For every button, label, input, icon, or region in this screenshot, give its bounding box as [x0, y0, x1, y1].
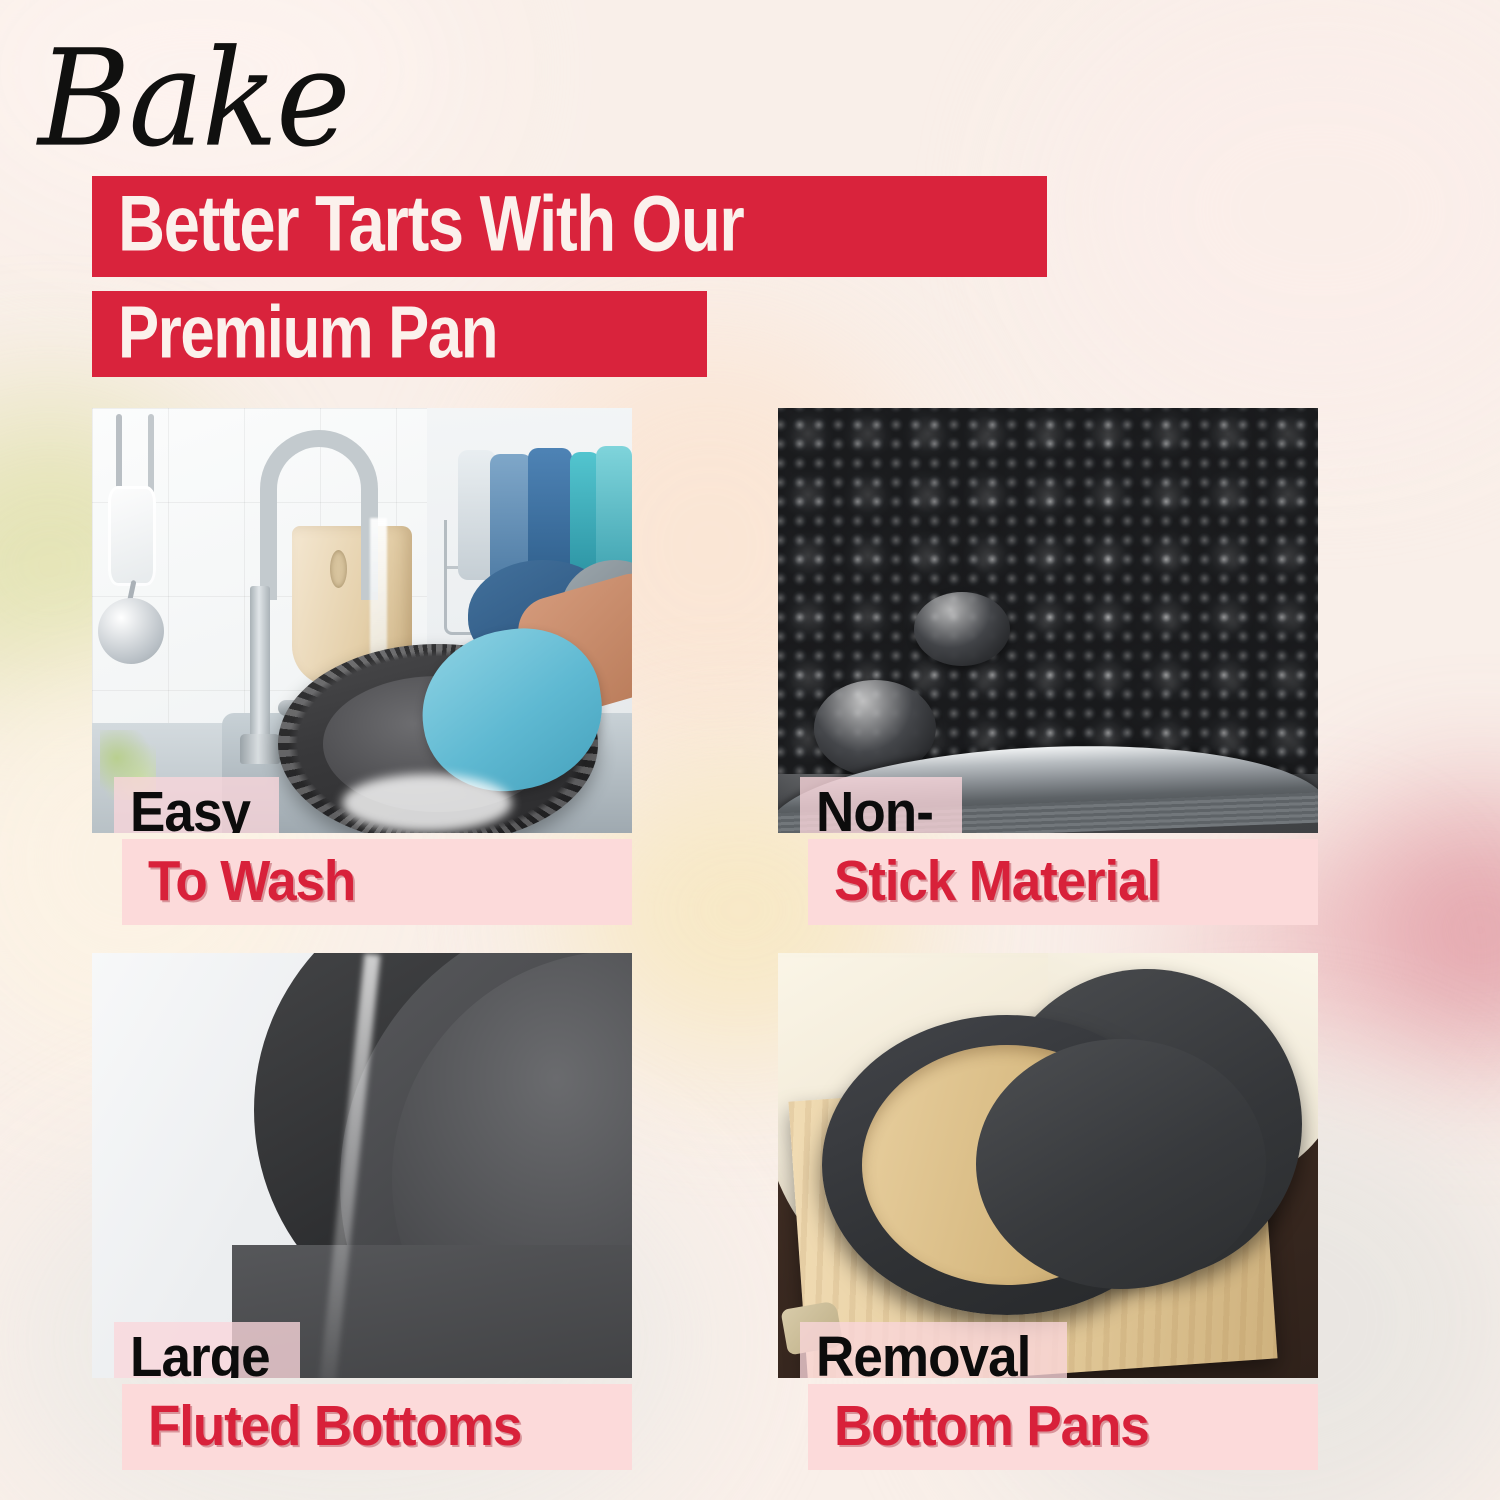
photo-washing-pan-in-sink: Easy: [92, 408, 632, 833]
faucet-post: [250, 586, 270, 756]
photo-fluted-rim-macro: Large: [92, 953, 632, 1378]
feature-word-bottom-bottom-pans: Bottom Pans: [808, 1384, 1318, 1470]
headline-banner-line1: Better Tarts With Our: [92, 176, 1047, 277]
feature-word-bottom-stick-material: Stick Material: [808, 839, 1318, 925]
inner-base-plate: [976, 1039, 1266, 1289]
feature-word-top-large: Large: [114, 1322, 300, 1378]
feature-card-removal-bottom-pans: Removal Bottom Pans: [778, 953, 1318, 1470]
feature-word-top-removal: Removal: [800, 1322, 1067, 1378]
large-water-droplet: [914, 592, 1010, 666]
feature-word-bottom-fluted-bottoms: Fluted Bottoms: [122, 1384, 632, 1470]
background-blob-top-right: [1060, 0, 1500, 420]
script-heading-bake: Bake: [38, 32, 349, 166]
headline-text-line2: Premium Pan: [118, 294, 497, 374]
feature-word-bottom-text: To Wash: [148, 852, 585, 910]
headline-text-line1: Better Tarts With Our: [118, 185, 743, 269]
feature-word-bottom-text: Stick Material: [834, 852, 1271, 910]
faucet-base: [240, 734, 280, 764]
soap-foam: [342, 774, 512, 832]
feature-word-top-easy: Easy: [114, 777, 279, 833]
faucet-neck: [260, 430, 378, 600]
feature-word-top-text: Removal: [816, 1328, 1030, 1378]
feature-card-easy-to-wash: Easy To Wash: [92, 408, 632, 925]
feature-card-large-fluted-bottoms: Large Fluted Bottoms: [92, 953, 632, 1470]
feature-card-non-stick-material: Non- Stick Material: [778, 408, 1318, 925]
photo-water-beads-on-nonstick: Non-: [778, 408, 1318, 833]
feature-word-top-non: Non-: [800, 777, 962, 833]
ladle-icon: [98, 598, 164, 664]
photo-pan-with-removable-bottom: Removal: [778, 953, 1318, 1378]
feature-word-top-text: Non-: [816, 783, 933, 833]
feature-grid: Easy To Wash Non- Stick Material: [92, 408, 1322, 1448]
feature-word-bottom-text: Fluted Bottoms: [148, 1397, 585, 1455]
feature-word-bottom-to-wash: To Wash: [122, 839, 632, 925]
spatula-icon: [108, 486, 156, 586]
product-feature-poster: Bake Better Tarts With Our Premium Pan: [0, 0, 1500, 1500]
feature-word-top-text: Large: [130, 1328, 270, 1378]
headline-banner-line2: Premium Pan: [92, 291, 707, 377]
feature-word-top-text: Easy: [130, 783, 250, 833]
feature-word-bottom-text: Bottom Pans: [834, 1397, 1271, 1455]
